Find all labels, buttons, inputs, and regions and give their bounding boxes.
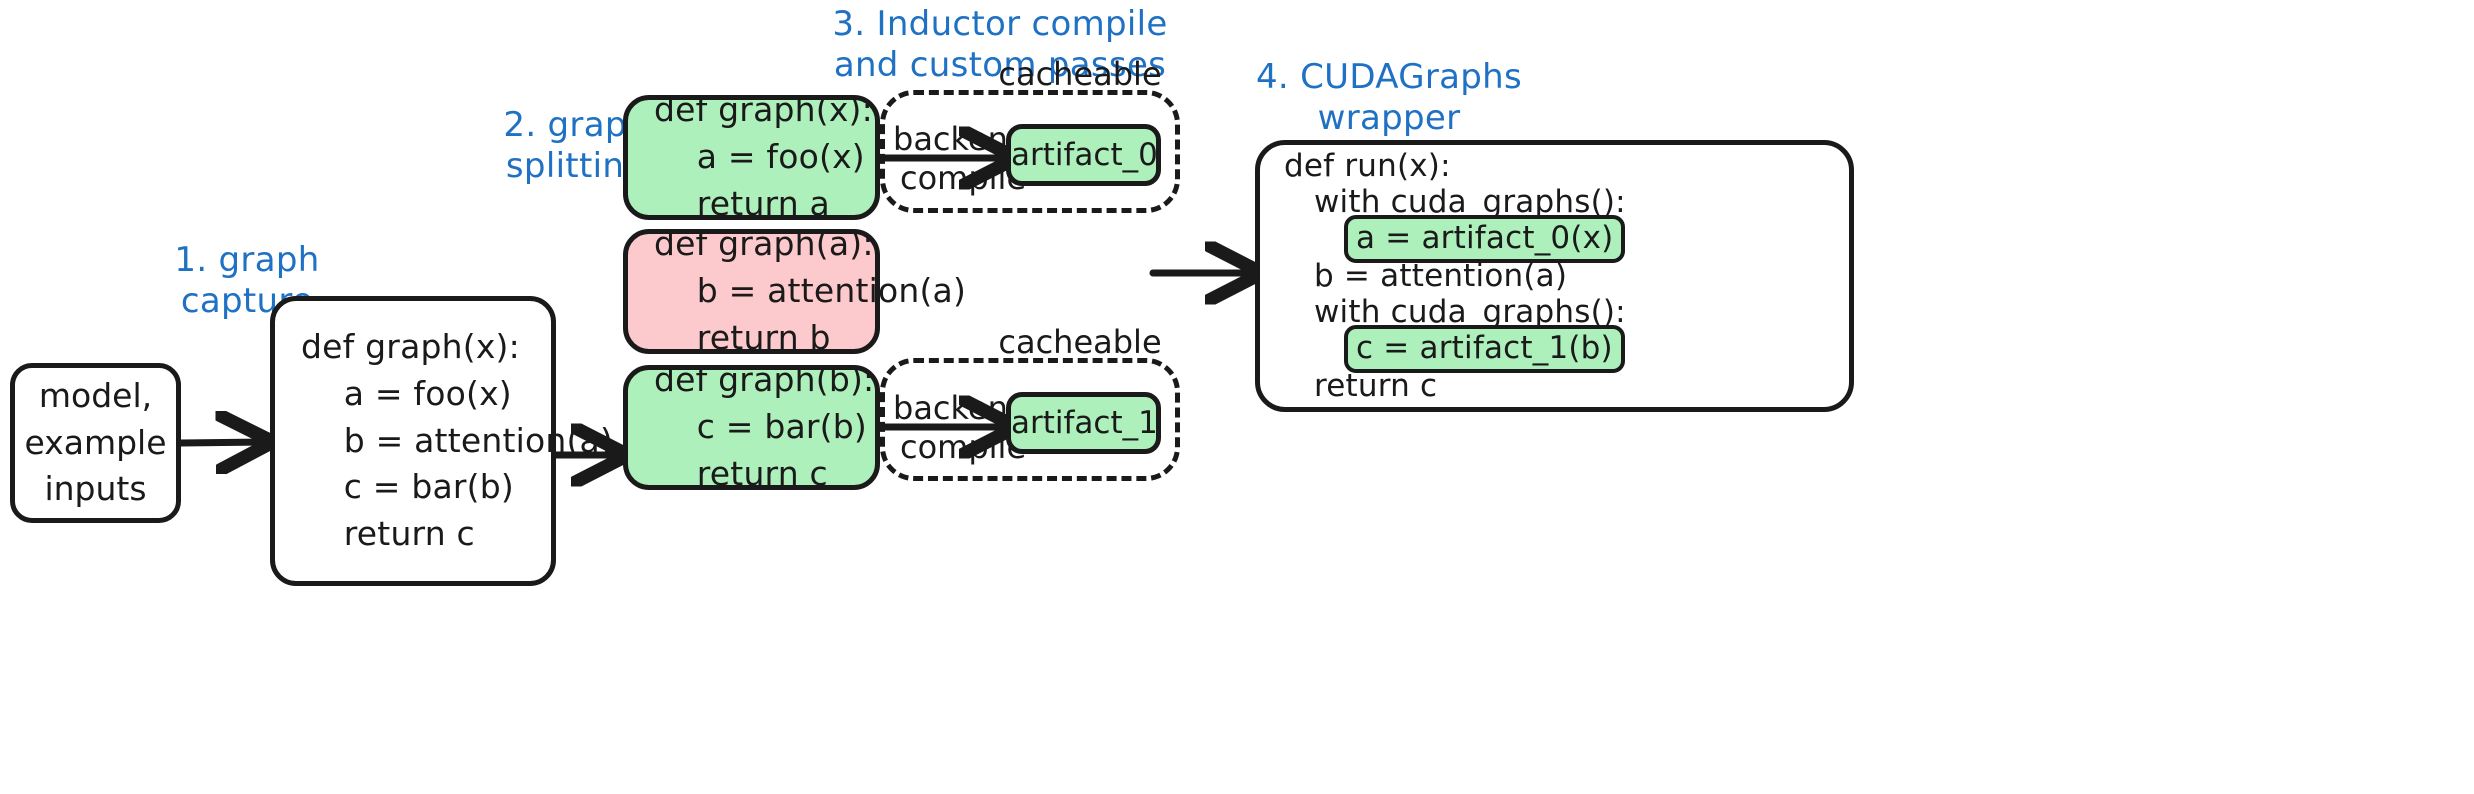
captured-graph-node[interactable]: def graph(x): a = foo(x) b = attention(a…: [270, 296, 556, 586]
cacheable-caption-bottom: cacheable: [985, 323, 1175, 361]
diagram-canvas: 1. graph capture 2. graph splitting 3. I…: [0, 0, 2474, 794]
subgraph-attention-code: def graph(a): b = attention(a) return b: [628, 221, 875, 362]
artifact-0-label: artifact_0: [1011, 133, 1156, 177]
subgraph-bar-code: def graph(b): c = bar(b) return c: [628, 357, 875, 498]
runtime-code-line: b = attention(a): [1284, 258, 1849, 294]
runtime-node[interactable]: def run(x):with cuda_graphs():a = artifa…: [1255, 140, 1854, 412]
artifact-1-label: artifact_1: [1011, 401, 1156, 445]
runtime-code-line: c = artifact_1(b): [1284, 331, 1849, 367]
subgraph-node-attention[interactable]: def graph(a): b = attention(a) return b: [623, 229, 880, 354]
compile-edge-label-top-line1: backend: [893, 120, 1018, 158]
input-node-text: model, example inputs: [15, 373, 176, 514]
subgraph-node-bar[interactable]: def graph(b): c = bar(b) return c: [623, 365, 880, 490]
step-label-cudagraphs-wrapper: 4. CUDAGraphs wrapper: [1182, 57, 1596, 140]
runtime-code-line: a = artifact_0(x): [1284, 221, 1849, 257]
cacheable-caption-top: cacheable: [985, 55, 1175, 93]
compile-edge-label-bottom-line1: backend: [893, 389, 1018, 427]
subgraph-foo-code: def graph(x): a = foo(x) return a: [628, 87, 875, 228]
arrow-input-to-graph: [181, 442, 262, 443]
subgraph-node-foo[interactable]: def graph(x): a = foo(x) return a: [623, 95, 880, 220]
runtime-artifact-call: a = artifact_0(x): [1344, 215, 1625, 264]
runtime-code-line: return c: [1284, 368, 1849, 404]
artifact-node-1[interactable]: artifact_1: [1006, 392, 1161, 454]
runtime-code: def run(x):with cuda_graphs():a = artifa…: [1260, 148, 1849, 404]
captured-graph-code: def graph(x): a = foo(x) b = attention(a…: [275, 324, 551, 558]
runtime-code-line: def run(x):: [1284, 148, 1849, 184]
input-node[interactable]: model, example inputs: [10, 363, 181, 523]
runtime-artifact-call: c = artifact_1(b): [1344, 325, 1625, 374]
artifact-node-0[interactable]: artifact_0: [1006, 124, 1161, 186]
